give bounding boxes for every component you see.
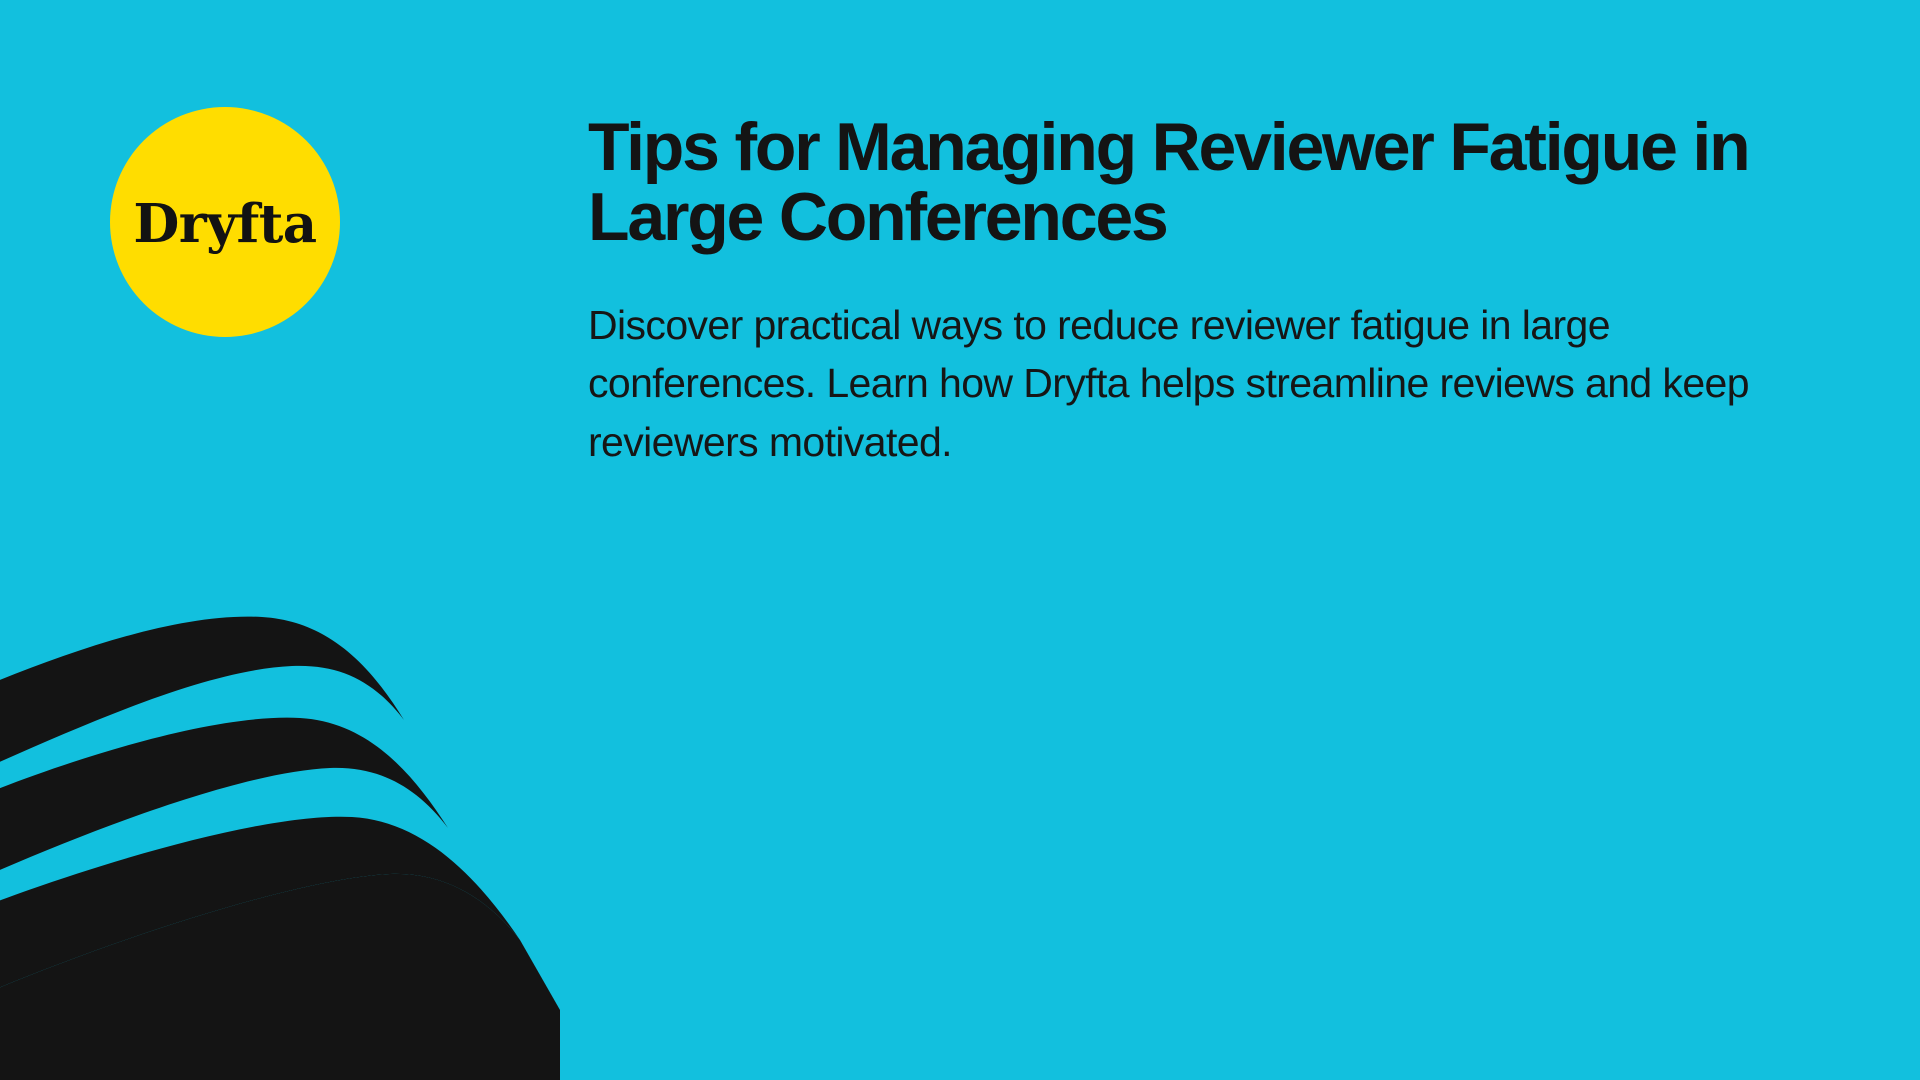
subtitle: Discover practical ways to reduce review…	[588, 252, 1788, 471]
headline: Tips for Managing Reviewer Fatigue in La…	[588, 112, 1828, 252]
text-block: Tips for Managing Reviewer Fatigue in La…	[588, 112, 1836, 471]
social-card-canvas: Dryfta Tips for Managing Reviewer Fatigu…	[0, 0, 1920, 1080]
brand-logo: Dryfta	[110, 107, 340, 337]
brand-logo-text: Dryfta	[133, 198, 316, 251]
